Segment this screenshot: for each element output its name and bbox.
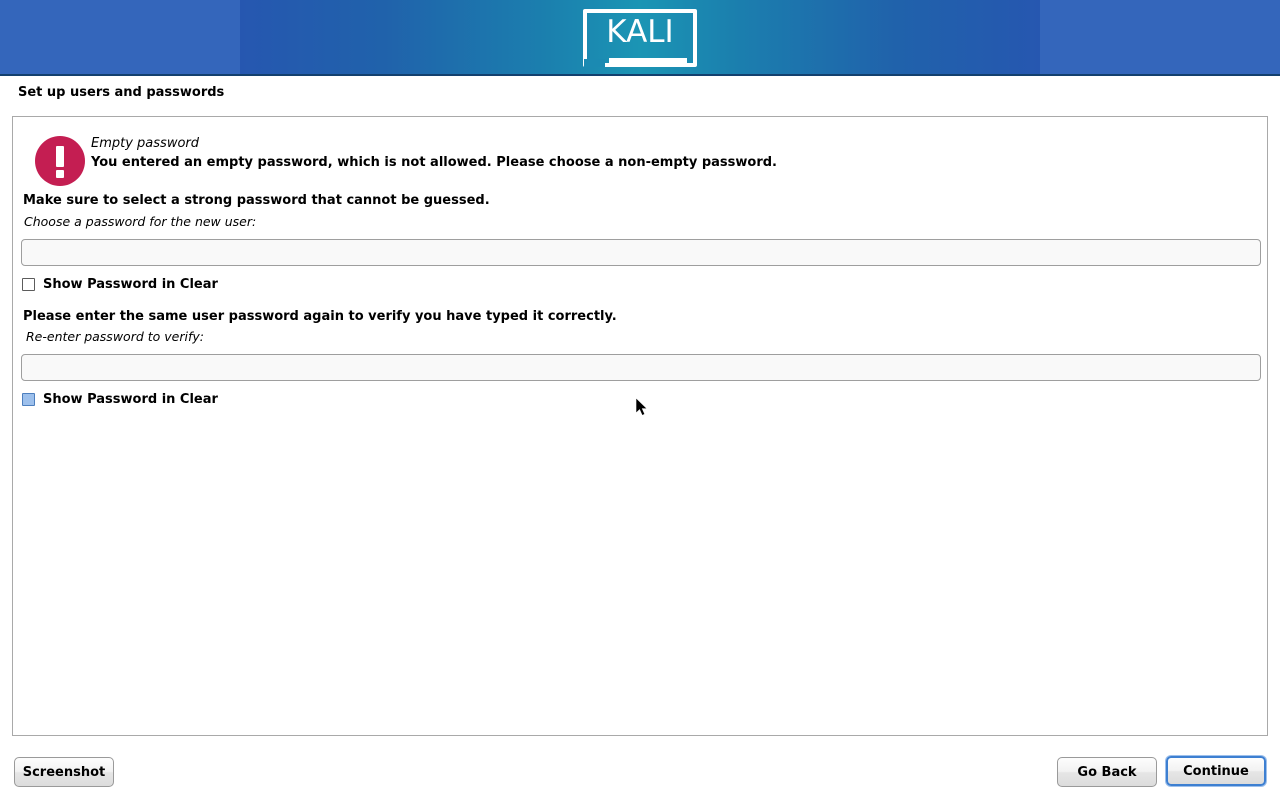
error-exclamation-icon — [35, 136, 85, 186]
installer-window: KALI Set up users and passwords Empty pa… — [0, 0, 1280, 800]
alert-message: You entered an empty password, which is … — [91, 155, 777, 170]
show-password-in-clear-row-1[interactable]: Show Password in Clear — [22, 277, 218, 292]
verify-section-heading: Please enter the same user password agai… — [23, 309, 617, 324]
screenshot-button[interactable]: Screenshot — [14, 757, 114, 787]
password-field-label: Choose a password for the new user: — [24, 214, 256, 229]
error-icon-bar — [56, 146, 64, 167]
content-panel: Empty password You entered an empty pass… — [12, 116, 1268, 736]
continue-button[interactable]: Continue — [1166, 756, 1266, 786]
kali-logo-text: KALI — [583, 9, 697, 55]
show-password-label-1: Show Password in Clear — [43, 277, 218, 292]
go-back-button[interactable]: Go Back — [1057, 757, 1157, 787]
password-input[interactable] — [21, 239, 1261, 266]
show-password-in-clear-row-2[interactable]: Show Password in Clear — [22, 392, 218, 407]
alert-title: Empty password — [91, 136, 199, 151]
kali-logo: KALI — [583, 9, 697, 67]
verify-field-label: Re-enter password to verify: — [26, 329, 204, 344]
kali-logo-underbar — [609, 58, 687, 63]
show-password-checkbox-1[interactable] — [22, 278, 35, 291]
verify-password-input[interactable] — [21, 354, 1261, 381]
banner-underline — [0, 74, 1280, 76]
password-section-heading: Make sure to select a strong password th… — [23, 193, 490, 208]
kali-banner: KALI — [0, 0, 1280, 74]
show-password-checkbox-2[interactable] — [22, 393, 35, 406]
error-icon-dot — [56, 170, 64, 178]
page-title: Set up users and passwords — [18, 85, 224, 100]
kali-logo-notch — [584, 59, 605, 67]
show-password-label-2: Show Password in Clear — [43, 392, 218, 407]
